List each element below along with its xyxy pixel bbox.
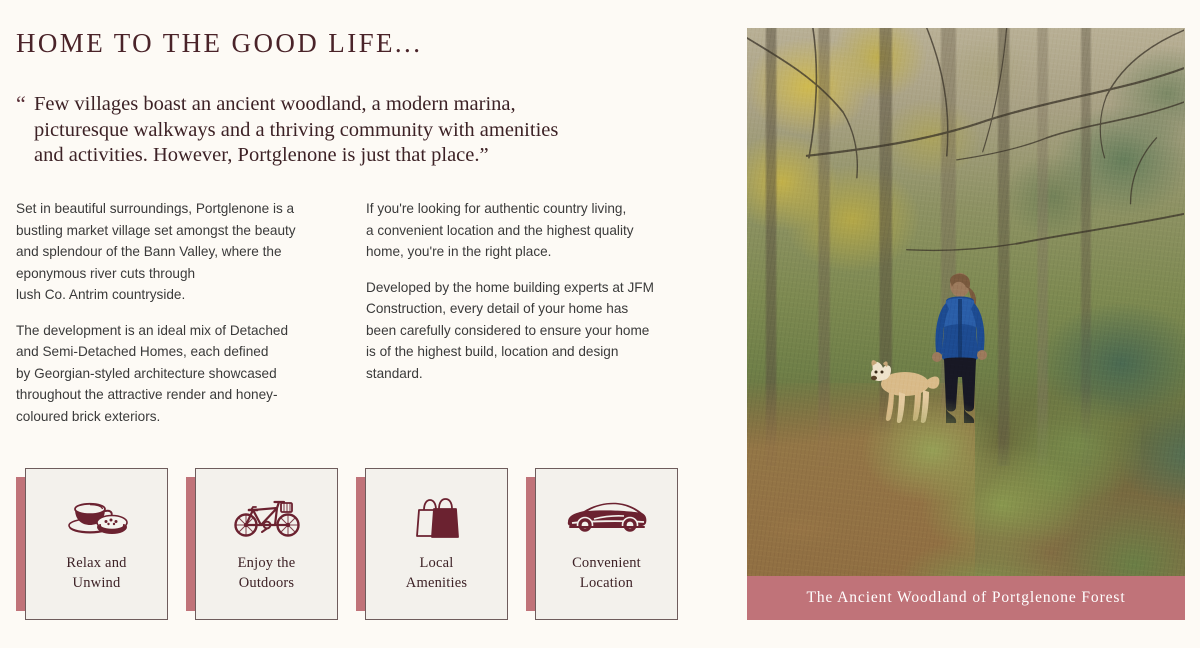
- card-label: Relax and Unwind: [66, 553, 126, 593]
- paragraph: If you're looking for authentic country …: [366, 198, 716, 263]
- card-label: Local Amenities: [406, 553, 467, 593]
- card-label-line: Relax and: [66, 553, 126, 573]
- text-line: home, you're in the right place.: [366, 241, 716, 263]
- body-column-right: If you're looking for authentic country …: [366, 198, 716, 441]
- card-label-line: Convenient: [572, 553, 641, 573]
- text-line: lush Co. Antrim countryside.: [16, 284, 366, 306]
- pull-quote-text: Few villages boast an ancient woodland, …: [34, 92, 736, 169]
- text-line: and Semi-Detached Homes, each defined: [16, 341, 366, 363]
- card-body[interactable]: Enjoy the Outdoors: [195, 468, 338, 620]
- text-line: Construction, every detail of your home …: [366, 298, 716, 320]
- bicycle-icon: [231, 493, 303, 539]
- photo-caption-text: The Ancient Woodland of Portglenone Fore…: [806, 589, 1125, 607]
- quote-line: Few villages boast an ancient woodland, …: [34, 92, 736, 118]
- feature-card-convenient-location[interactable]: Convenient Location: [526, 468, 678, 620]
- card-label-line: Unwind: [66, 573, 126, 593]
- card-label-line: Enjoy the: [238, 553, 296, 573]
- text-line: Developed by the home building experts a…: [366, 277, 716, 299]
- photo-layer-grain: [747, 28, 1185, 620]
- text-line: Set in beautiful surroundings, Portgleno…: [16, 198, 366, 220]
- woodland-photo-frame: The Ancient Woodland of Portglenone Fore…: [747, 28, 1185, 620]
- feature-card-local-amenities[interactable]: Local Amenities: [356, 468, 508, 620]
- body-text-columns: Set in beautiful surroundings, Portgleno…: [16, 198, 716, 441]
- card-label-line: Local: [406, 553, 467, 573]
- card-body[interactable]: Relax and Unwind: [25, 468, 168, 620]
- card-label: Convenient Location: [572, 553, 641, 593]
- card-label: Enjoy the Outdoors: [238, 553, 296, 593]
- paragraph: The development is an ideal mix of Detac…: [16, 320, 366, 428]
- card-label-line: Amenities: [406, 573, 467, 593]
- text-line: a convenient location and the highest qu…: [366, 220, 716, 242]
- page-title: HOME TO THE GOOD LIFE...: [16, 28, 422, 59]
- text-line: coloured brick exteriors.: [16, 406, 366, 428]
- card-label-line: Location: [572, 573, 641, 593]
- text-line: If you're looking for authentic country …: [366, 198, 716, 220]
- text-line: and splendour of the Bann Valley, where …: [16, 241, 366, 263]
- feature-cards: Relax and Unwind: [16, 468, 706, 628]
- text-line: throughout the attractive render and hon…: [16, 384, 366, 406]
- shopping-bags-icon: [408, 493, 466, 539]
- card-label-line: Outdoors: [238, 573, 296, 593]
- text-line: standard.: [366, 363, 716, 385]
- photo-caption-bar: The Ancient Woodland of Portglenone Fore…: [747, 576, 1185, 620]
- quote-line: picturesque walkways and a thriving comm…: [34, 118, 736, 144]
- card-body[interactable]: Local Amenities: [365, 468, 508, 620]
- open-quote-mark: “: [16, 93, 26, 115]
- car-icon: [564, 493, 650, 539]
- pull-quote: “ Few villages boast an ancient woodland…: [16, 92, 736, 169]
- woodland-photo: The Ancient Woodland of Portglenone Fore…: [747, 28, 1185, 620]
- paragraph: Set in beautiful surroundings, Portgleno…: [16, 198, 366, 306]
- text-line: bustling market village set amongst the …: [16, 220, 366, 242]
- text-line: been carefully considered to ensure your…: [366, 320, 716, 342]
- feature-card-enjoy-the-outdoors[interactable]: Enjoy the Outdoors: [186, 468, 338, 620]
- quote-line: and activities. However, Portglenone is …: [34, 143, 736, 169]
- brochure-page: HOME TO THE GOOD LIFE... “ Few villages …: [0, 0, 1200, 648]
- feature-card-relax-and-unwind[interactable]: Relax and Unwind: [16, 468, 168, 620]
- text-line: eponymous river cuts through: [16, 263, 366, 285]
- body-column-left: Set in beautiful surroundings, Portgleno…: [16, 198, 366, 441]
- teacup-and-cake-icon: [62, 493, 132, 539]
- text-line: by Georgian-styled architecture showcase…: [16, 363, 366, 385]
- card-body[interactable]: Convenient Location: [535, 468, 678, 620]
- text-line: is of the highest build, location and de…: [366, 341, 716, 363]
- paragraph: Developed by the home building experts a…: [366, 277, 716, 385]
- text-line: The development is an ideal mix of Detac…: [16, 320, 366, 342]
